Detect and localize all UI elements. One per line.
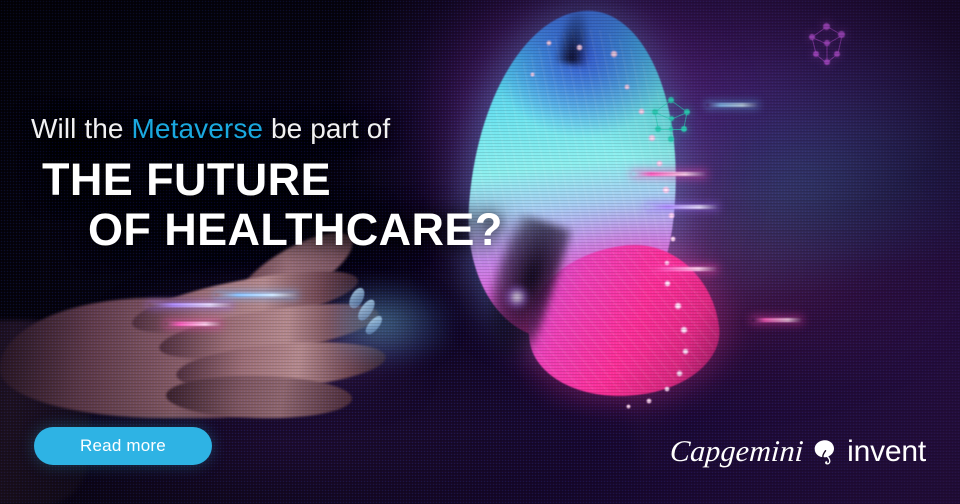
kicker-highlight-metaverse: Metaverse	[131, 113, 263, 144]
capgemini-spade-icon	[810, 437, 840, 467]
metaverse-healthcare-banner: Will the Metaverse be part of THE FUTURE…	[0, 0, 960, 504]
logo-sub-brand-invent: invent	[847, 437, 926, 467]
kicker-before-text: Will the	[31, 113, 131, 144]
read-more-button[interactable]: Read more	[34, 427, 212, 465]
headline-line-2: OF HEALTHCARE?	[88, 206, 551, 254]
kicker-after-text: be part of	[263, 113, 390, 144]
headline-kicker: Will the Metaverse be part of	[31, 110, 551, 148]
headline-block: Will the Metaverse be part of THE FUTURE…	[31, 110, 551, 254]
capgemini-invent-logo[interactable]: Capgemini invent	[670, 432, 926, 472]
headline-line-1: THE FUTURE	[42, 156, 551, 204]
logo-brand-capgemini: Capgemini	[669, 437, 805, 467]
